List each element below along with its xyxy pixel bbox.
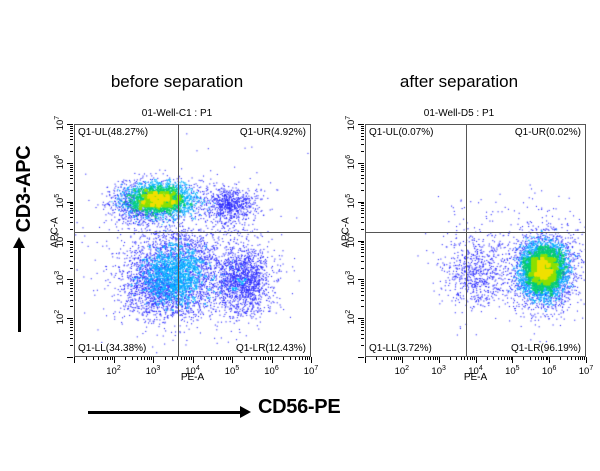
y-axis-minor-tick: [361, 169, 364, 170]
x-axis-minor-tick: [299, 357, 300, 360]
panel-after-separation: after separation 01-Well-D5 : P1 Q1-UL(0…: [325, 72, 593, 372]
y-axis-tick-label: 102: [54, 302, 66, 332]
quadrant-label-lr: Q1-LR(96.19%): [510, 343, 582, 354]
x-axis-minor-tick: [177, 357, 178, 360]
y-axis-minor-tick: [361, 130, 364, 131]
y-axis-minor-tick: [361, 208, 364, 209]
x-axis-minor-tick: [547, 357, 548, 360]
y-axis-minor-tick: [70, 133, 73, 134]
x-axis-tick-label: 107: [296, 365, 326, 377]
x-axis-minor-tick: [151, 357, 152, 360]
y-axis-minor-tick: [70, 183, 73, 184]
y-axis-minor-tick: [70, 338, 73, 339]
y-axis-minor-tick: [361, 136, 364, 137]
y-axis-minor-tick: [70, 203, 73, 204]
y-axis-major-tick: [358, 357, 364, 358]
x-axis-minor-tick: [430, 357, 431, 360]
y-axis-minor-tick: [70, 288, 73, 289]
y-axis-major-tick: [67, 241, 73, 242]
x-axis-minor-tick: [538, 357, 539, 360]
x-axis-minor-tick: [107, 357, 108, 360]
y-axis-minor-tick: [361, 327, 364, 328]
y-axis-minor-tick: [70, 139, 73, 140]
y-axis-minor-tick: [361, 133, 364, 134]
y-axis-minor-tick: [361, 300, 364, 301]
y-axis-minor-tick: [361, 288, 364, 289]
y-axis-minor-tick: [70, 261, 73, 262]
x-axis-minor-tick: [464, 357, 465, 360]
x-axis-minor-tick: [450, 357, 451, 360]
x-axis-minor-tick: [132, 357, 133, 360]
x-axis-minor-tick: [226, 357, 227, 360]
y-axis-minor-tick: [361, 222, 364, 223]
y-axis-minor-tick: [361, 126, 364, 127]
x-axis-minor-tick: [86, 357, 87, 360]
y-axis-minor-tick: [361, 151, 364, 152]
y-axis-minor-tick: [70, 165, 73, 166]
x-axis-minor-tick: [125, 357, 126, 360]
x-axis-minor-tick: [305, 357, 306, 360]
x-axis-minor-tick: [186, 357, 187, 360]
y-axis-minor-tick: [70, 217, 73, 218]
x-axis-minor-tick: [181, 357, 182, 360]
x-axis-minor-tick: [535, 357, 536, 360]
x-axis-minor-tick: [244, 357, 245, 360]
y-axis-tick-label: 104: [54, 225, 66, 255]
x-axis-minor-tick: [172, 357, 173, 360]
y-axis-minor-tick: [361, 190, 364, 191]
x-axis-minor-tick: [419, 357, 420, 360]
panel-caption: after separation: [325, 72, 593, 92]
y-axis-major-tick: [358, 124, 364, 125]
x-axis-minor-tick: [396, 357, 397, 360]
y-axis-minor-tick: [70, 256, 73, 257]
scatter-plot-after[interactable]: Q1-UL(0.07%) Q1-UR(0.02%) Q1-LL(3.72%) Q…: [365, 124, 586, 357]
y-axis-major-tick: [358, 318, 364, 319]
x-axis-minor-tick: [230, 357, 231, 360]
y-axis-minor-tick: [70, 345, 73, 346]
y-axis-minor-tick: [70, 205, 73, 206]
y-axis-minor-tick: [70, 285, 73, 286]
panel-before-separation: before separation 01-Well-C1 : P1 Q1-UL(…: [32, 72, 322, 372]
y-axis-minor-tick: [361, 178, 364, 179]
x-axis-tick-label: 103: [138, 365, 168, 377]
y-axis-minor-tick: [361, 171, 364, 172]
x-axis-minor-tick: [290, 357, 291, 360]
y-axis-minor-tick: [70, 190, 73, 191]
x-axis-tick-label: 105: [217, 365, 247, 377]
y-axis-minor-tick: [361, 144, 364, 145]
x-axis-minor-tick: [147, 357, 148, 360]
x-axis-minor-tick: [270, 357, 271, 360]
y-axis-major-tick: [67, 202, 73, 203]
y-axis-minor-tick: [70, 249, 73, 250]
quadrant-divider-horizontal: [75, 232, 310, 233]
x-axis-tick-label: 102: [387, 365, 417, 377]
y-axis-minor-tick: [361, 183, 364, 184]
x-axis-minor-tick: [376, 357, 377, 360]
panel-subtitle: 01-Well-C1 : P1: [32, 108, 322, 119]
y-axis-tick-label: 105: [345, 186, 357, 216]
x-axis-minor-tick: [580, 357, 581, 360]
y-axis-minor-tick: [70, 213, 73, 214]
x-axis-minor-tick: [501, 357, 502, 360]
x-axis-tick-label: 105: [497, 365, 527, 377]
y-axis-minor-tick: [70, 330, 73, 331]
x-axis-tick-label: 104: [461, 365, 491, 377]
x-axis-minor-tick: [307, 357, 308, 360]
y-axis-major-tick: [358, 163, 364, 164]
x-axis-minor-tick: [530, 357, 531, 360]
x-axis-minor-tick: [456, 357, 457, 360]
outer-y-axis-arrow-icon: [18, 246, 21, 332]
x-axis-minor-tick: [400, 357, 401, 360]
quadrant-divider-vertical: [178, 125, 179, 356]
y-axis-minor-tick: [361, 249, 364, 250]
y-axis-tick-label: 107: [345, 108, 357, 138]
y-axis-minor-tick: [70, 244, 73, 245]
x-axis-minor-tick: [184, 357, 185, 360]
x-axis-minor-tick: [98, 357, 99, 360]
x-axis-minor-tick: [560, 357, 561, 360]
x-axis-minor-tick: [105, 357, 106, 360]
quadrant-divider-horizontal: [366, 232, 585, 233]
y-axis-tick-label: 107: [54, 108, 66, 138]
x-axis-minor-tick: [191, 357, 192, 360]
y-axis-minor-tick: [361, 324, 364, 325]
x-axis-tick-label: 106: [257, 365, 287, 377]
y-axis-minor-tick: [70, 327, 73, 328]
x-axis-major-tick: [232, 357, 233, 363]
x-axis-minor-tick: [487, 357, 488, 360]
quadrant-divider-vertical: [466, 125, 467, 356]
x-axis-minor-tick: [93, 357, 94, 360]
y-axis-minor-tick: [361, 139, 364, 140]
x-axis-minor-tick: [260, 357, 261, 360]
x-axis-minor-tick: [220, 357, 221, 360]
y-axis-minor-tick: [70, 128, 73, 129]
quadrant-label-ll: Q1-LL(34.38%): [77, 343, 147, 354]
x-axis-minor-tick: [228, 357, 229, 360]
y-axis-minor-tick: [361, 320, 364, 321]
x-axis-minor-tick: [223, 357, 224, 360]
x-axis-minor-tick: [394, 357, 395, 360]
x-axis-tick-label: 106: [534, 365, 564, 377]
x-axis-minor-tick: [265, 357, 266, 360]
y-axis-minor-tick: [361, 167, 364, 168]
x-axis-minor-tick: [575, 357, 576, 360]
outer-x-axis-title: CD56-PE: [258, 396, 340, 419]
y-axis-minor-tick: [70, 136, 73, 137]
y-axis-minor-tick: [361, 291, 364, 292]
quadrant-label-ul: Q1-UL(48.27%): [77, 127, 149, 138]
x-axis-major-tick: [193, 357, 194, 363]
y-axis-tick-label: 106: [345, 147, 357, 177]
y-axis-minor-tick: [70, 178, 73, 179]
y-axis-minor-tick: [70, 322, 73, 323]
quadrant-label-lr: Q1-LR(12.43%): [235, 343, 307, 354]
y-axis-minor-tick: [70, 208, 73, 209]
y-axis-minor-tick: [361, 285, 364, 286]
y-axis-minor-tick: [70, 300, 73, 301]
y-axis-minor-tick: [361, 242, 364, 243]
y-axis-minor-tick: [361, 306, 364, 307]
y-axis-tick-label: 102: [345, 302, 357, 332]
x-axis-minor-tick: [504, 357, 505, 360]
y-axis-minor-tick: [361, 256, 364, 257]
x-axis-minor-tick: [470, 357, 471, 360]
y-axis-minor-tick: [361, 330, 364, 331]
y-axis-minor-tick: [70, 144, 73, 145]
y-axis-major-tick: [67, 318, 73, 319]
x-axis-minor-tick: [383, 357, 384, 360]
y-axis-major-tick: [67, 279, 73, 280]
x-axis-minor-tick: [251, 357, 252, 360]
y-axis-minor-tick: [361, 322, 364, 323]
x-axis-minor-tick: [509, 357, 510, 360]
x-axis-minor-tick: [387, 357, 388, 360]
x-axis-major-tick: [476, 357, 477, 363]
x-axis-minor-tick: [433, 357, 434, 360]
x-axis-minor-tick: [283, 357, 284, 360]
x-axis-minor-tick: [523, 357, 524, 360]
x-axis-major-tick: [114, 357, 115, 363]
x-axis-major-tick: [365, 357, 366, 363]
y-axis-minor-tick: [361, 283, 364, 284]
y-axis-tick-label: 103: [54, 263, 66, 293]
x-axis-major-tick: [402, 357, 403, 363]
y-axis-minor-tick: [70, 210, 73, 211]
x-axis-minor-tick: [571, 357, 572, 360]
x-axis-minor-tick: [437, 357, 438, 360]
x-axis-major-tick: [512, 357, 513, 363]
y-axis-minor-tick: [70, 268, 73, 269]
y-axis-tick-label: 106: [54, 147, 66, 177]
x-axis-minor-tick: [110, 357, 111, 360]
x-axis-minor-tick: [189, 357, 190, 360]
y-axis-minor-tick: [70, 242, 73, 243]
y-axis-minor-tick: [361, 229, 364, 230]
x-axis-minor-tick: [461, 357, 462, 360]
scatter-canvas: [75, 125, 310, 356]
y-axis-minor-tick: [361, 205, 364, 206]
y-axis-minor-tick: [361, 128, 364, 129]
y-axis-minor-tick: [70, 222, 73, 223]
x-axis-minor-tick: [474, 357, 475, 360]
y-axis-tick-label: 103: [345, 263, 357, 293]
x-axis-minor-tick: [216, 357, 217, 360]
x-axis-minor-tick: [302, 357, 303, 360]
y-axis-minor-tick: [361, 268, 364, 269]
scatter-canvas: [366, 125, 585, 356]
x-axis-minor-tick: [263, 357, 264, 360]
y-axis-minor-tick: [70, 167, 73, 168]
y-axis-minor-tick: [361, 252, 364, 253]
x-axis-major-tick: [74, 357, 75, 363]
panel-caption: before separation: [32, 72, 322, 92]
y-axis-minor-tick: [361, 334, 364, 335]
x-axis-major-tick: [272, 357, 273, 363]
x-axis-minor-tick: [391, 357, 392, 360]
x-axis-minor-tick: [467, 357, 468, 360]
x-axis-minor-tick: [424, 357, 425, 360]
x-axis-minor-tick: [428, 357, 429, 360]
outer-x-axis-arrow-icon: [88, 411, 240, 414]
y-axis-minor-tick: [70, 295, 73, 296]
x-axis-major-tick: [153, 357, 154, 363]
y-axis-major-tick: [358, 241, 364, 242]
x-axis-major-tick: [549, 357, 550, 363]
x-axis-minor-tick: [498, 357, 499, 360]
y-axis-minor-tick: [361, 217, 364, 218]
x-axis-minor-tick: [295, 357, 296, 360]
x-axis-minor-tick: [112, 357, 113, 360]
x-axis-minor-tick: [578, 357, 579, 360]
y-axis-minor-tick: [361, 295, 364, 296]
x-axis-minor-tick: [584, 357, 585, 360]
y-axis-minor-tick: [70, 169, 73, 170]
x-axis-minor-tick: [144, 357, 145, 360]
y-axis-tick-label: 104: [345, 225, 357, 255]
y-axis-minor-tick: [361, 175, 364, 176]
quadrant-label-ur: Q1-UR(4.92%): [239, 127, 307, 138]
x-axis-major-tick: [586, 357, 587, 363]
x-axis-minor-tick: [413, 357, 414, 360]
x-axis-minor-tick: [493, 357, 494, 360]
y-axis-minor-tick: [70, 247, 73, 248]
x-axis-minor-tick: [435, 357, 436, 360]
y-axis-minor-tick: [361, 345, 364, 346]
x-axis-minor-tick: [541, 357, 542, 360]
x-axis-minor-tick: [211, 357, 212, 360]
x-axis-minor-tick: [149, 357, 150, 360]
y-axis-minor-tick: [70, 334, 73, 335]
figure-root: CD3-APC CD56-PE before separation 01-Wel…: [0, 0, 600, 471]
x-axis-tick-label: 103: [424, 365, 454, 377]
scatter-plot-before[interactable]: Q1-UL(48.27%) Q1-UR(4.92%) Q1-LL(34.38%)…: [74, 124, 311, 357]
y-axis-minor-tick: [361, 244, 364, 245]
y-axis-minor-tick: [70, 252, 73, 253]
x-axis-tick-label: 107: [571, 365, 600, 377]
y-axis-minor-tick: [361, 281, 364, 282]
y-axis-major-tick: [358, 202, 364, 203]
y-axis-minor-tick: [70, 126, 73, 127]
x-axis-minor-tick: [398, 357, 399, 360]
y-axis-minor-tick: [361, 338, 364, 339]
y-axis-minor-tick: [361, 247, 364, 248]
y-axis-minor-tick: [70, 306, 73, 307]
quadrant-label-ll: Q1-LL(3.72%): [368, 343, 433, 354]
x-axis-minor-tick: [472, 357, 473, 360]
x-axis-minor-tick: [582, 357, 583, 360]
quadrant-label-ur: Q1-UR(0.02%): [514, 127, 582, 138]
y-axis-minor-tick: [70, 283, 73, 284]
y-axis-minor-tick: [361, 165, 364, 166]
y-axis-minor-tick: [70, 130, 73, 131]
y-axis-major-tick: [67, 124, 73, 125]
y-axis-major-tick: [67, 163, 73, 164]
x-axis-minor-tick: [268, 357, 269, 360]
x-axis-tick-label: 104: [178, 365, 208, 377]
y-axis-minor-tick: [70, 175, 73, 176]
y-axis-minor-tick: [70, 171, 73, 172]
y-axis-major-tick: [358, 279, 364, 280]
x-axis-minor-tick: [102, 357, 103, 360]
y-axis-minor-tick: [361, 210, 364, 211]
panel-subtitle: 01-Well-D5 : P1: [325, 108, 593, 119]
x-axis-minor-tick: [204, 357, 205, 360]
y-axis-minor-tick: [70, 151, 73, 152]
quadrant-label-ul: Q1-UL(0.07%): [368, 127, 434, 138]
x-axis-tick-label: 102: [99, 365, 129, 377]
y-axis-minor-tick: [70, 281, 73, 282]
y-axis-minor-tick: [70, 324, 73, 325]
y-axis-minor-tick: [70, 229, 73, 230]
x-axis-minor-tick: [256, 357, 257, 360]
x-axis-minor-tick: [309, 357, 310, 360]
y-axis-tick-label: 105: [54, 186, 66, 216]
x-axis-major-tick: [311, 357, 312, 363]
x-axis-major-tick: [439, 357, 440, 363]
x-axis-minor-tick: [141, 357, 142, 360]
x-axis-minor-tick: [567, 357, 568, 360]
y-axis-minor-tick: [361, 203, 364, 204]
y-axis-minor-tick: [70, 291, 73, 292]
y-axis-minor-tick: [361, 213, 364, 214]
x-axis-minor-tick: [543, 357, 544, 360]
y-axis-minor-tick: [70, 320, 73, 321]
x-axis-minor-tick: [507, 357, 508, 360]
y-axis-minor-tick: [361, 261, 364, 262]
x-axis-minor-tick: [165, 357, 166, 360]
x-axis-minor-tick: [137, 357, 138, 360]
y-axis-major-tick: [67, 357, 73, 358]
